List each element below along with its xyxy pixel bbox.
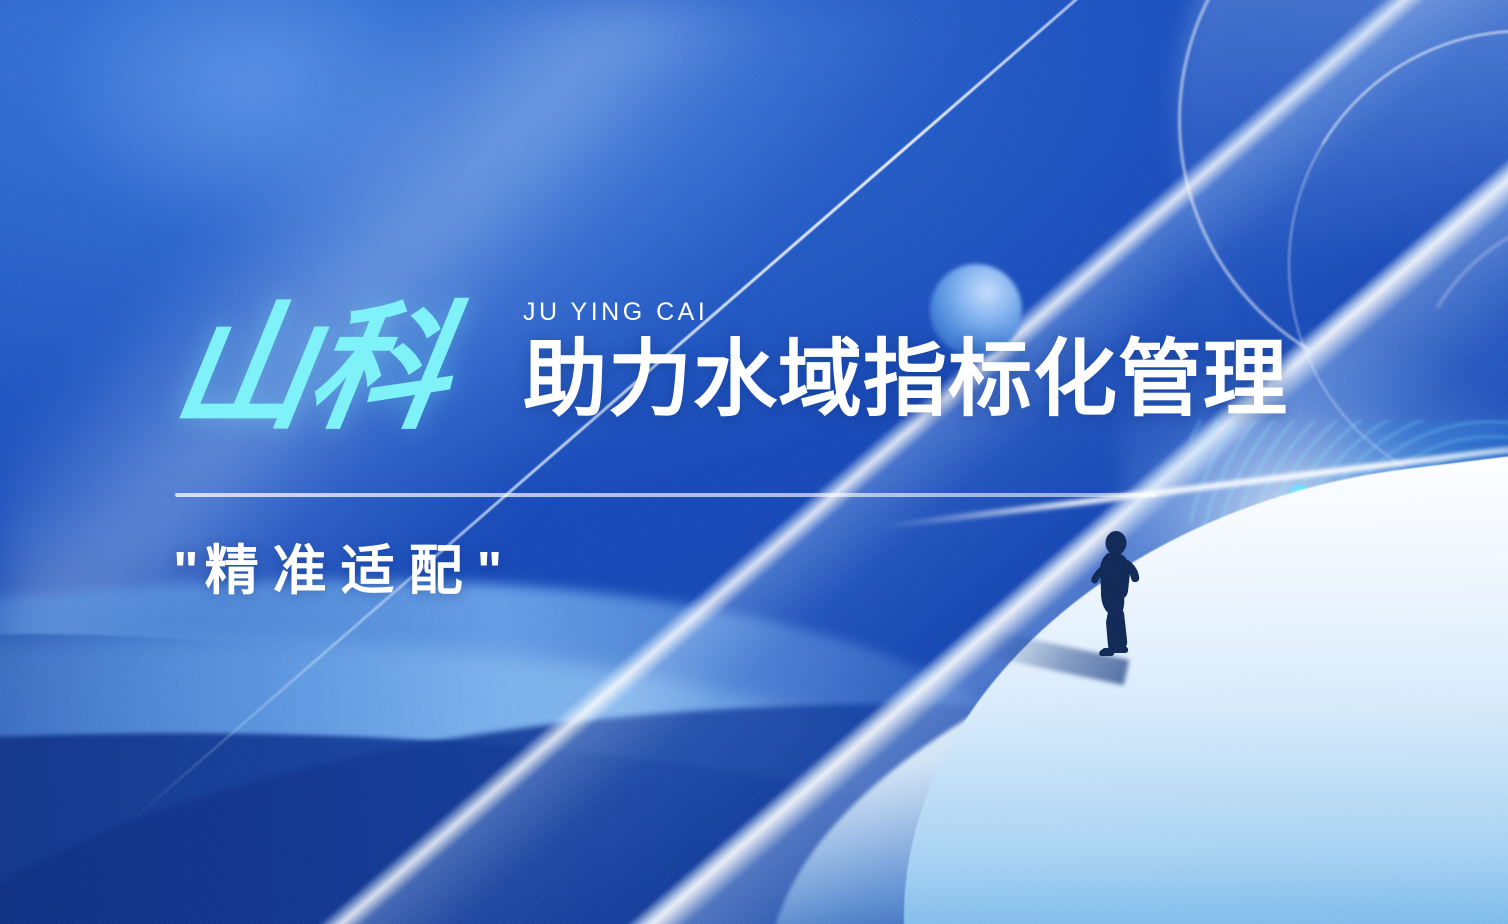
tagline: "精准适配" xyxy=(173,540,508,602)
brand-lockup: 山科 xyxy=(175,300,447,438)
divider-line xyxy=(175,493,1157,497)
headline-text: 助力水域指标化管理 xyxy=(523,337,1288,421)
tagline-close-quote: " xyxy=(477,541,509,601)
headline-block: JU YING CAI 助力水域指标化管理 xyxy=(523,300,1288,421)
brand-name-cn: 山科 xyxy=(164,300,458,438)
tagline-text: 精准适配 xyxy=(205,541,477,601)
brand-pinyin: JU YING CAI xyxy=(523,300,1288,325)
promo-banner: 山科 JU YING CAI 助力水域指标化管理 "精准适配" xyxy=(0,0,1508,924)
banner-content: 山科 JU YING CAI 助力水域指标化管理 "精准适配" xyxy=(0,0,1508,924)
tagline-open-quote: " xyxy=(173,541,205,601)
